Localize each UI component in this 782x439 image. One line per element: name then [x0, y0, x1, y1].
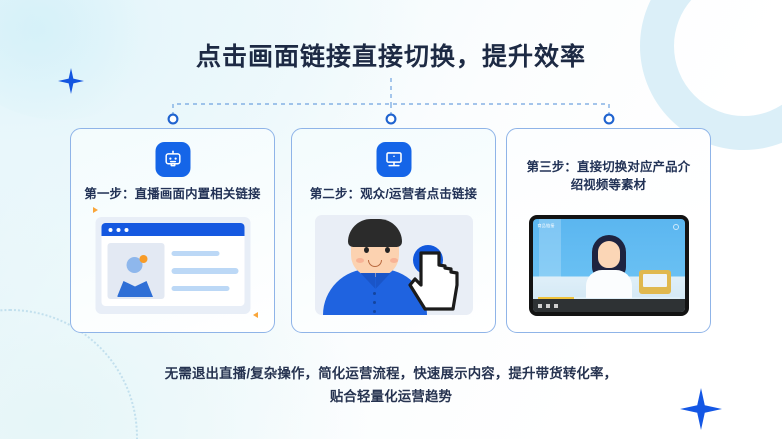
step-card-2-label: 第二步：观众/运营者点击链接 [298, 186, 489, 204]
search-icon [673, 224, 679, 230]
connector-lines [0, 78, 782, 126]
steps-card-row: 第一步：直播画面内置相关链接 [0, 128, 782, 336]
step-card-1-label: 第一步：直播画面内置相关链接 [77, 186, 268, 204]
monitor-icon [376, 142, 411, 177]
play-icon[interactable] [546, 304, 550, 308]
cursor-hand-icon [407, 245, 467, 315]
circle-node-icon [169, 115, 178, 124]
product-device [639, 270, 671, 294]
browser-title-bar [101, 223, 244, 236]
orange-triangle-icon [93, 207, 98, 213]
browser-window-illustration [95, 217, 250, 314]
orange-triangle-icon [253, 312, 258, 318]
content-lines [171, 243, 238, 299]
browser-dot [124, 228, 128, 232]
video-watermark: 商品链接 [538, 223, 555, 229]
circle-node-icon [605, 115, 614, 124]
step-card-1[interactable]: 第一步：直播画面内置相关链接 [70, 128, 275, 333]
next-icon[interactable] [554, 304, 558, 308]
slide-canvas: 点击画面链接直接切换，提升效率 第一步：直播画面内置相关链接 [0, 0, 782, 439]
browser-dot [108, 228, 112, 232]
person-click-illustration [315, 215, 473, 315]
step-card-3-label: 第三步：直接切换对应产品介绍视频等素材 [513, 159, 704, 194]
slide-title: 点击画面链接直接切换，提升效率 [0, 37, 782, 73]
stop-icon[interactable] [538, 304, 542, 308]
circle-node-icon [387, 115, 396, 124]
avatar [107, 243, 164, 299]
browser-dot [116, 228, 120, 232]
video-player-illustration: 商品链接 [529, 215, 689, 316]
footer-summary: 无需退出直播/复杂操作，简化运营流程，快速展示内容，提升带货转化率， 贴合轻量化… [0, 362, 782, 408]
footer-line-2: 贴合轻量化运营趋势 [0, 385, 782, 408]
step-card-3[interactable]: 第三步：直接切换对应产品介绍视频等素材 商品链接 [506, 128, 711, 333]
video-controls[interactable] [533, 299, 685, 312]
step-card-2[interactable]: 第二步：观众/运营者点击链接 [291, 128, 496, 333]
footer-line-1: 无需退出直播/复杂操作，简化运营流程，快速展示内容，提升带货转化率， [0, 362, 782, 385]
robot-icon [155, 142, 190, 177]
